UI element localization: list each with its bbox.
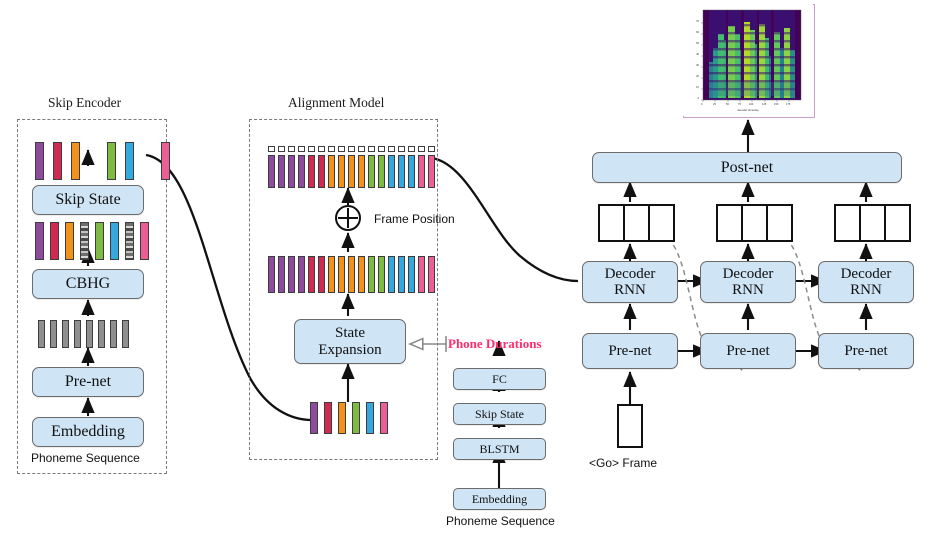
spectrogram-xtick: 0	[701, 103, 702, 106]
spectrogram-xtick: 25	[713, 103, 716, 106]
gray-unit	[98, 320, 105, 348]
frame-marker	[298, 146, 305, 152]
decoder-rnn-line-2: RNN	[614, 282, 646, 298]
state-bar	[71, 142, 80, 180]
state-bar	[35, 222, 44, 260]
state-bar	[366, 402, 374, 434]
diagram-canvas: Skip Encoder Skip State CBHG Pre-net Emb…	[0, 0, 929, 539]
frame-marker	[428, 146, 435, 152]
frame-marker	[408, 146, 415, 152]
decoder-output-frames-3	[834, 204, 911, 242]
output-spectrogram: 70 60 50 40 30 20 10 0 0 25 50 75 100 12…	[683, 4, 813, 116]
frame-marker	[418, 146, 425, 152]
spectrogram-ytick: 0	[685, 97, 699, 100]
frame-marker	[308, 146, 315, 152]
state-bar	[368, 256, 375, 293]
decoder-rnn-line-1: Decoder	[841, 266, 892, 282]
state-bar	[310, 402, 318, 434]
state-expansion-module[interactable]: State Expansion	[294, 319, 406, 364]
skip-encoder-embedding[interactable]: Embedding	[32, 417, 144, 447]
alignment-input-bars	[310, 402, 388, 434]
duration-embedding-module[interactable]: Embedding	[453, 488, 546, 510]
state-expansion-line-2: Expansion	[318, 342, 381, 358]
state-expansion-line-1: State	[335, 325, 365, 341]
skip-encoder-cbhg[interactable]: CBHG	[32, 269, 144, 299]
state-bar	[110, 222, 119, 260]
decoder-rnn-1[interactable]: Decoder RNN	[582, 261, 678, 303]
state-bar	[418, 256, 425, 293]
state-bar	[268, 256, 275, 293]
frame-marker	[268, 146, 275, 152]
state-bar	[298, 155, 305, 188]
state-bar	[278, 256, 285, 293]
state-bar	[298, 256, 305, 293]
frame-cell	[648, 204, 675, 242]
post-net-module[interactable]: Post-net	[592, 152, 902, 183]
state-bar	[288, 155, 295, 188]
decoder-prenet-3[interactable]: Pre-net	[818, 333, 914, 369]
frame-marker	[378, 146, 385, 152]
state-bar	[428, 256, 435, 293]
state-bar	[408, 155, 415, 188]
skip-encoder-output-bars	[35, 142, 170, 180]
frame-cell	[623, 204, 650, 242]
frame-position-add-icon	[335, 205, 361, 231]
frame-marker	[358, 146, 365, 152]
gray-unit	[38, 320, 45, 348]
skip-encoder-prenet-output	[38, 320, 134, 348]
state-bar	[318, 256, 325, 293]
frame-cell	[766, 204, 793, 242]
frame-marker	[368, 146, 375, 152]
frame-cell	[741, 204, 768, 242]
state-bar	[338, 256, 345, 293]
gray-unit	[110, 320, 117, 348]
state-bar	[408, 256, 415, 293]
decoder-rnn-2[interactable]: Decoder RNN	[700, 261, 796, 303]
spectrogram-ytick: 40	[685, 53, 699, 56]
duration-blstm-module[interactable]: BLSTM	[453, 438, 546, 460]
state-bar	[288, 256, 295, 293]
spectrogram-ytick: 30	[685, 64, 699, 67]
gray-unit	[86, 320, 93, 348]
spectrogram-ytick: 50	[685, 42, 699, 45]
spectrogram-ytick: 70	[685, 20, 699, 23]
state-bar	[358, 256, 365, 293]
frame-cell	[884, 204, 911, 242]
gray-unit	[50, 320, 57, 348]
frame-marker	[388, 146, 395, 152]
frame-cell	[716, 204, 743, 242]
state-bar	[278, 155, 285, 188]
gray-unit	[122, 320, 129, 348]
state-bar	[125, 142, 134, 180]
frame-marker	[338, 146, 345, 152]
frame-cell	[834, 204, 861, 242]
state-bar	[352, 402, 360, 434]
frame-marker	[318, 146, 325, 152]
state-bar	[398, 155, 405, 188]
state-bar	[358, 155, 365, 188]
spectrogram-xtick: 150	[774, 103, 778, 106]
state-bar	[418, 155, 425, 188]
alignment-model-title: Alignment Model	[288, 95, 384, 111]
spectrogram-xtick: 175	[786, 103, 790, 106]
decoder-rnn-line-1: Decoder	[723, 266, 774, 282]
state-bar-skipped	[80, 222, 89, 260]
spectrogram-xtick: 125	[762, 103, 766, 106]
state-bar	[50, 222, 59, 260]
alignment-frame-position-markers	[268, 146, 438, 152]
phone-durations-label: Phone Durations	[448, 336, 542, 352]
decoder-rnn-line-2: RNN	[850, 282, 882, 298]
state-bar	[328, 256, 335, 293]
state-bar	[140, 222, 149, 260]
skip-encoder-cbhg-bars	[35, 222, 149, 260]
spectrogram-xlabel: decoder timestep	[683, 108, 813, 112]
decoder-output-frames-1	[598, 204, 675, 242]
state-bar-skipped	[125, 222, 134, 260]
frame-marker	[398, 146, 405, 152]
state-bar	[388, 155, 395, 188]
gray-unit	[62, 320, 69, 348]
state-bar	[65, 222, 74, 260]
state-bar	[378, 256, 385, 293]
frame-position-label: Frame Position	[374, 212, 455, 226]
spectrogram-xtick: 50	[726, 103, 729, 106]
state-bar	[53, 142, 62, 180]
decoder-rnn-line-2: RNN	[732, 282, 764, 298]
alignment-output-bars	[268, 155, 435, 188]
state-bar	[95, 222, 104, 260]
state-bar	[348, 256, 355, 293]
state-bar	[380, 402, 388, 434]
state-bar	[398, 256, 405, 293]
spectrogram-image	[683, 4, 813, 116]
spectrogram-ytick: 10	[685, 86, 699, 89]
skip-encoder-title: Skip Encoder	[48, 95, 121, 111]
state-bar	[368, 155, 375, 188]
state-bar	[107, 142, 116, 180]
skip-encoder-input-label: Phoneme Sequence	[31, 451, 140, 465]
skip-encoder-skip-state[interactable]: Skip State	[32, 185, 144, 215]
duration-fc-module[interactable]: FC	[453, 368, 546, 390]
state-bar	[338, 155, 345, 188]
state-bar	[388, 256, 395, 293]
frame-cell	[598, 204, 625, 242]
state-bar	[328, 155, 335, 188]
frame-marker	[288, 146, 295, 152]
spectrogram-xtick: 100	[749, 103, 753, 106]
decoder-prenet-2[interactable]: Pre-net	[700, 333, 796, 369]
frame-marker	[348, 146, 355, 152]
state-bar	[324, 402, 332, 434]
state-bar	[348, 155, 355, 188]
state-bar	[268, 155, 275, 188]
frame-marker	[328, 146, 335, 152]
spectrogram-ytick: 20	[685, 75, 699, 78]
decoder-rnn-line-1: Decoder	[605, 266, 656, 282]
state-bar	[161, 142, 170, 180]
decoder-output-frames-2	[716, 204, 793, 242]
gray-unit	[74, 320, 81, 348]
frame-cell	[859, 204, 886, 242]
decoder-rnn-3[interactable]: Decoder RNN	[818, 261, 914, 303]
state-bar	[378, 155, 385, 188]
state-bar	[318, 155, 325, 188]
state-bar	[308, 155, 315, 188]
alignment-expanded-bars	[268, 256, 435, 293]
state-bar	[308, 256, 315, 293]
spectrogram-ytick: 60	[685, 31, 699, 34]
duration-skip-state-module[interactable]: Skip State	[453, 403, 546, 425]
state-bar	[428, 155, 435, 188]
decoder-prenet-1[interactable]: Pre-net	[582, 333, 678, 369]
duration-input-label: Phoneme Sequence	[446, 514, 555, 528]
state-bar	[35, 142, 44, 180]
frame-marker	[278, 146, 285, 152]
go-frame-box	[617, 404, 643, 448]
skip-encoder-prenet[interactable]: Pre-net	[32, 367, 144, 397]
go-frame-label: <Go> Frame	[589, 456, 657, 470]
spectrogram-xtick: 75	[738, 103, 741, 106]
state-bar	[338, 402, 346, 434]
